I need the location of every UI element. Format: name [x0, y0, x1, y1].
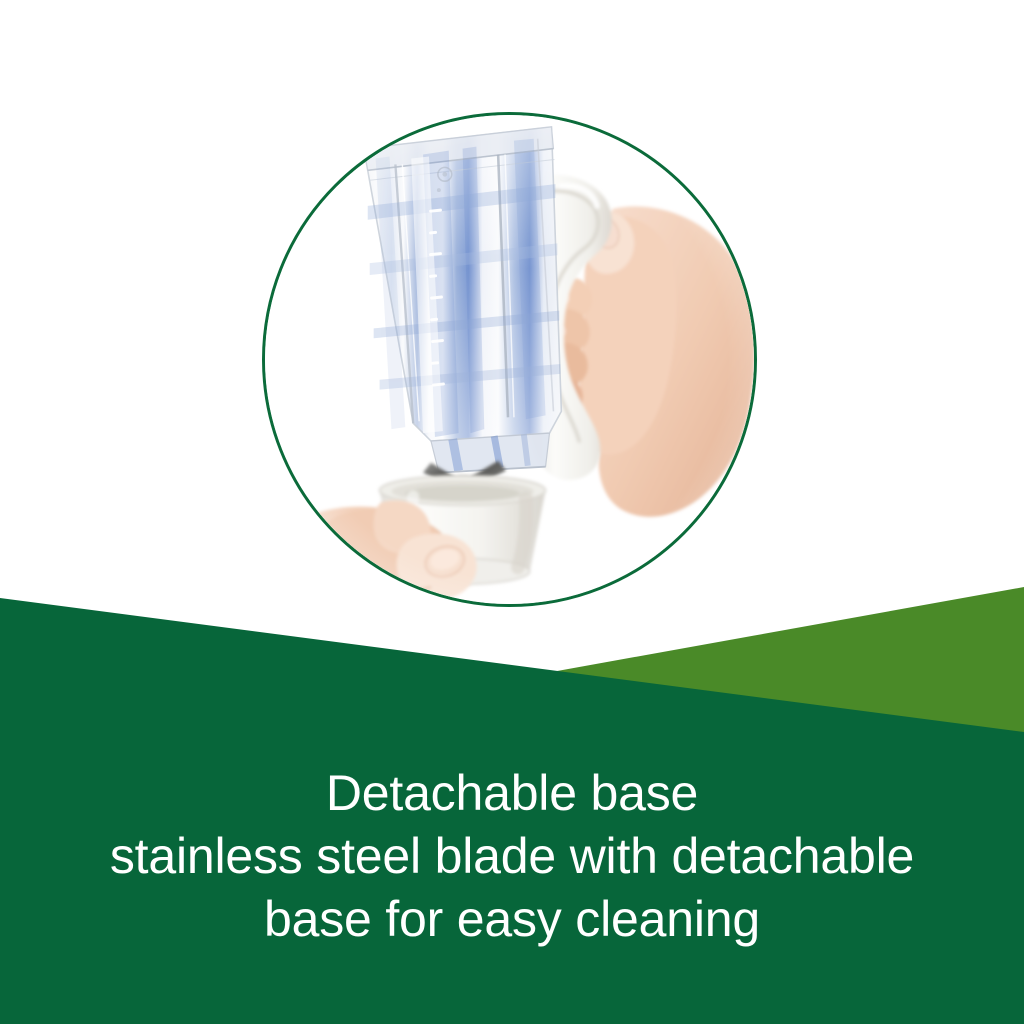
caption-line-1: Detachable base [0, 762, 1024, 825]
caption-line-2: stainless steel blade with detachable [0, 825, 1024, 888]
circular-photo-frame [262, 112, 757, 607]
product-photo-illustration [265, 115, 754, 604]
product-feature-poster: Detachable base stainless steel blade wi… [0, 0, 1024, 1024]
photo-stage [0, 0, 1024, 620]
photo-clip [265, 115, 754, 604]
feature-caption: Detachable base stainless steel blade wi… [0, 762, 1024, 951]
caption-line-3: base for easy cleaning [0, 888, 1024, 951]
